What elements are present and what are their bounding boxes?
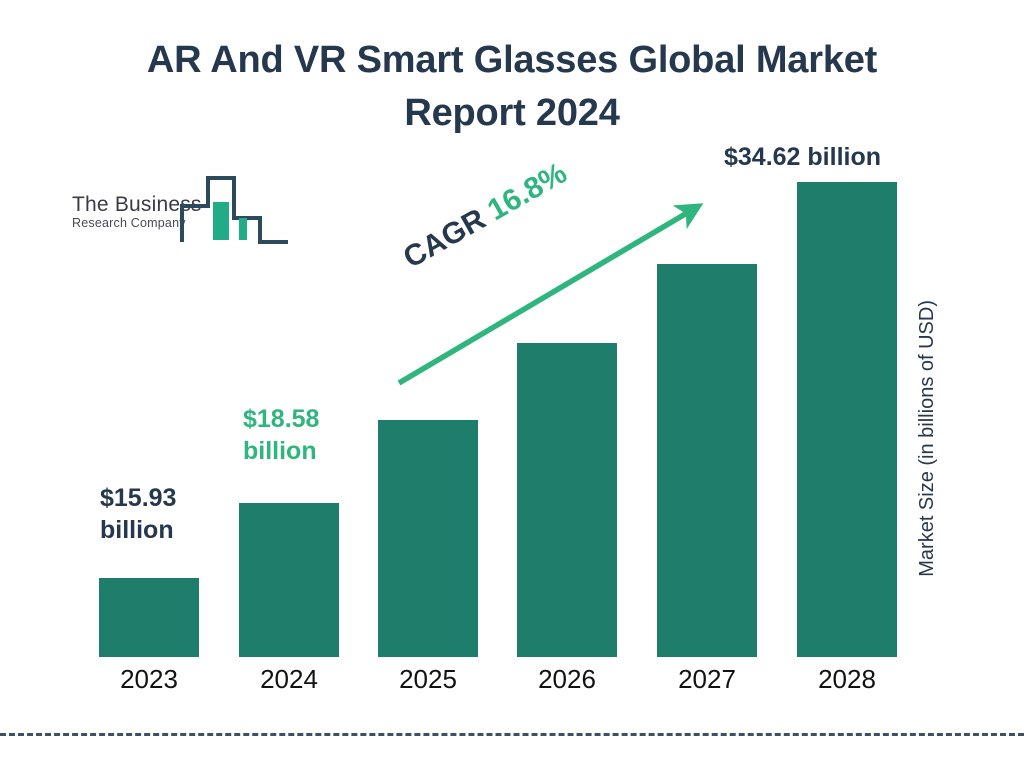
data-label-2023: $15.93 billion	[100, 482, 176, 546]
x-tick-2023: 2023	[99, 664, 199, 694]
footer-divider	[0, 733, 1024, 736]
cagr-annotation: CAGR 16.8%	[398, 157, 573, 276]
bar-2026	[517, 343, 617, 657]
y-axis-title: Market Size (in billions of USD)	[915, 300, 939, 577]
bar-2023	[99, 578, 199, 657]
chart-canvas: AR And VR Smart Glasses Global Market Re…	[0, 0, 1024, 768]
cagr-label: CAGR	[398, 198, 498, 274]
x-tick-2026: 2026	[517, 664, 617, 694]
data-label-2024: $18.58 billion	[243, 403, 319, 467]
x-tick-2025: 2025	[378, 664, 478, 694]
data-label-2028: $34.62 billion	[724, 141, 881, 173]
x-tick-2027: 2027	[657, 664, 757, 694]
cagr-value: 16.8%	[482, 157, 572, 228]
x-tick-2028: 2028	[797, 664, 897, 694]
plot-area: $15.93 billion $18.58 billion $34.62 bil…	[0, 0, 1024, 768]
bar-2027	[657, 264, 757, 657]
bar-2028	[797, 182, 897, 657]
x-tick-2024: 2024	[239, 664, 339, 694]
bar-2025	[378, 420, 478, 657]
bar-2024	[239, 503, 339, 657]
